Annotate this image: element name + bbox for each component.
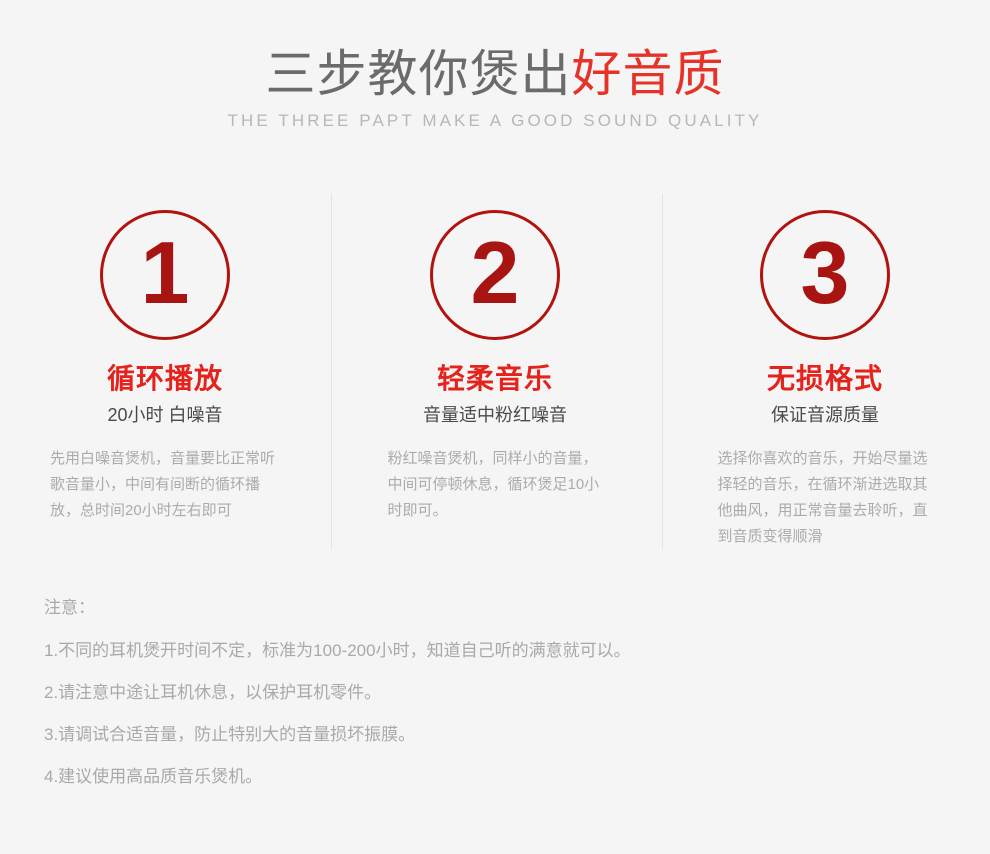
step-number-circle-1: 1 bbox=[100, 210, 230, 340]
step-number-circle-3: 3 bbox=[760, 210, 890, 340]
step-number-2: 2 bbox=[471, 229, 520, 317]
notes-section: 注意： 1.不同的耳机煲开时间不定，标准为100-200小时，知道自己听的满意就… bbox=[44, 596, 944, 789]
note-item-1: 1.不同的耳机煲开时间不定，标准为100-200小时，知道自己听的满意就可以。 bbox=[44, 639, 944, 663]
step-subtitle-3: 保证音源质量 bbox=[771, 403, 879, 427]
step-number-1: 1 bbox=[141, 229, 190, 317]
note-item-2: 2.请注意中途让耳机休息，以保护耳机零件。 bbox=[44, 681, 944, 705]
steps-section: 1 循环播放 20小时 白噪音 先用白噪音煲机，音量要比正常听歌音量小，中间有间… bbox=[0, 186, 990, 556]
step-subtitle-1: 20小时 白噪音 bbox=[107, 403, 222, 427]
step-card-3: 3 无损格式 保证音源质量 选择你喜欢的音乐，开始尽量选择轻的音乐，在循环渐进选… bbox=[660, 186, 990, 556]
step-card-2: 2 轻柔音乐 音量适中粉红噪音 粉红噪音煲机，同样小的音量，中间可停顿休息，循环… bbox=[330, 186, 660, 556]
page-title-prefix: 三步教你煲出 bbox=[266, 46, 572, 102]
step-body-2: 粉红噪音煲机，同样小的音量，中间可停顿休息，循环煲足10小时即可。 bbox=[388, 446, 603, 524]
step-card-1: 1 循环播放 20小时 白噪音 先用白噪音煲机，音量要比正常听歌音量小，中间有间… bbox=[0, 186, 330, 556]
step-subtitle-2: 音量适中粉红噪音 bbox=[423, 403, 567, 427]
page-title-accent: 好音质 bbox=[572, 46, 725, 102]
page-title: 三步教你煲出好音质 bbox=[0, 44, 990, 104]
page-header: 三步教你煲出好音质 THE THREE PAPT MAKE A GOOD SOU… bbox=[0, 44, 990, 132]
step-title-1: 循环播放 bbox=[107, 362, 223, 396]
step-title-2: 轻柔音乐 bbox=[437, 362, 553, 396]
page-subtitle: THE THREE PAPT MAKE A GOOD SOUND QUALITY bbox=[0, 110, 990, 132]
note-item-4: 4.建议使用高品质音乐煲机。 bbox=[44, 765, 944, 789]
step-body-3: 选择你喜欢的音乐，开始尽量选择轻的音乐，在循环渐进选取其他曲风，用正常音量去聆听… bbox=[718, 446, 933, 550]
infographic-page: 三步教你煲出好音质 THE THREE PAPT MAKE A GOOD SOU… bbox=[0, 0, 990, 854]
step-body-1: 先用白噪音煲机，音量要比正常听歌音量小，中间有间断的循环播放，总时间20小时左右… bbox=[50, 446, 280, 524]
step-number-circle-2: 2 bbox=[430, 210, 560, 340]
step-number-3: 3 bbox=[801, 229, 850, 317]
note-item-3: 3.请调试合适音量，防止特别大的音量损坏振膜。 bbox=[44, 723, 944, 747]
step-title-3: 无损格式 bbox=[767, 362, 883, 396]
notes-heading: 注意： bbox=[44, 596, 944, 620]
